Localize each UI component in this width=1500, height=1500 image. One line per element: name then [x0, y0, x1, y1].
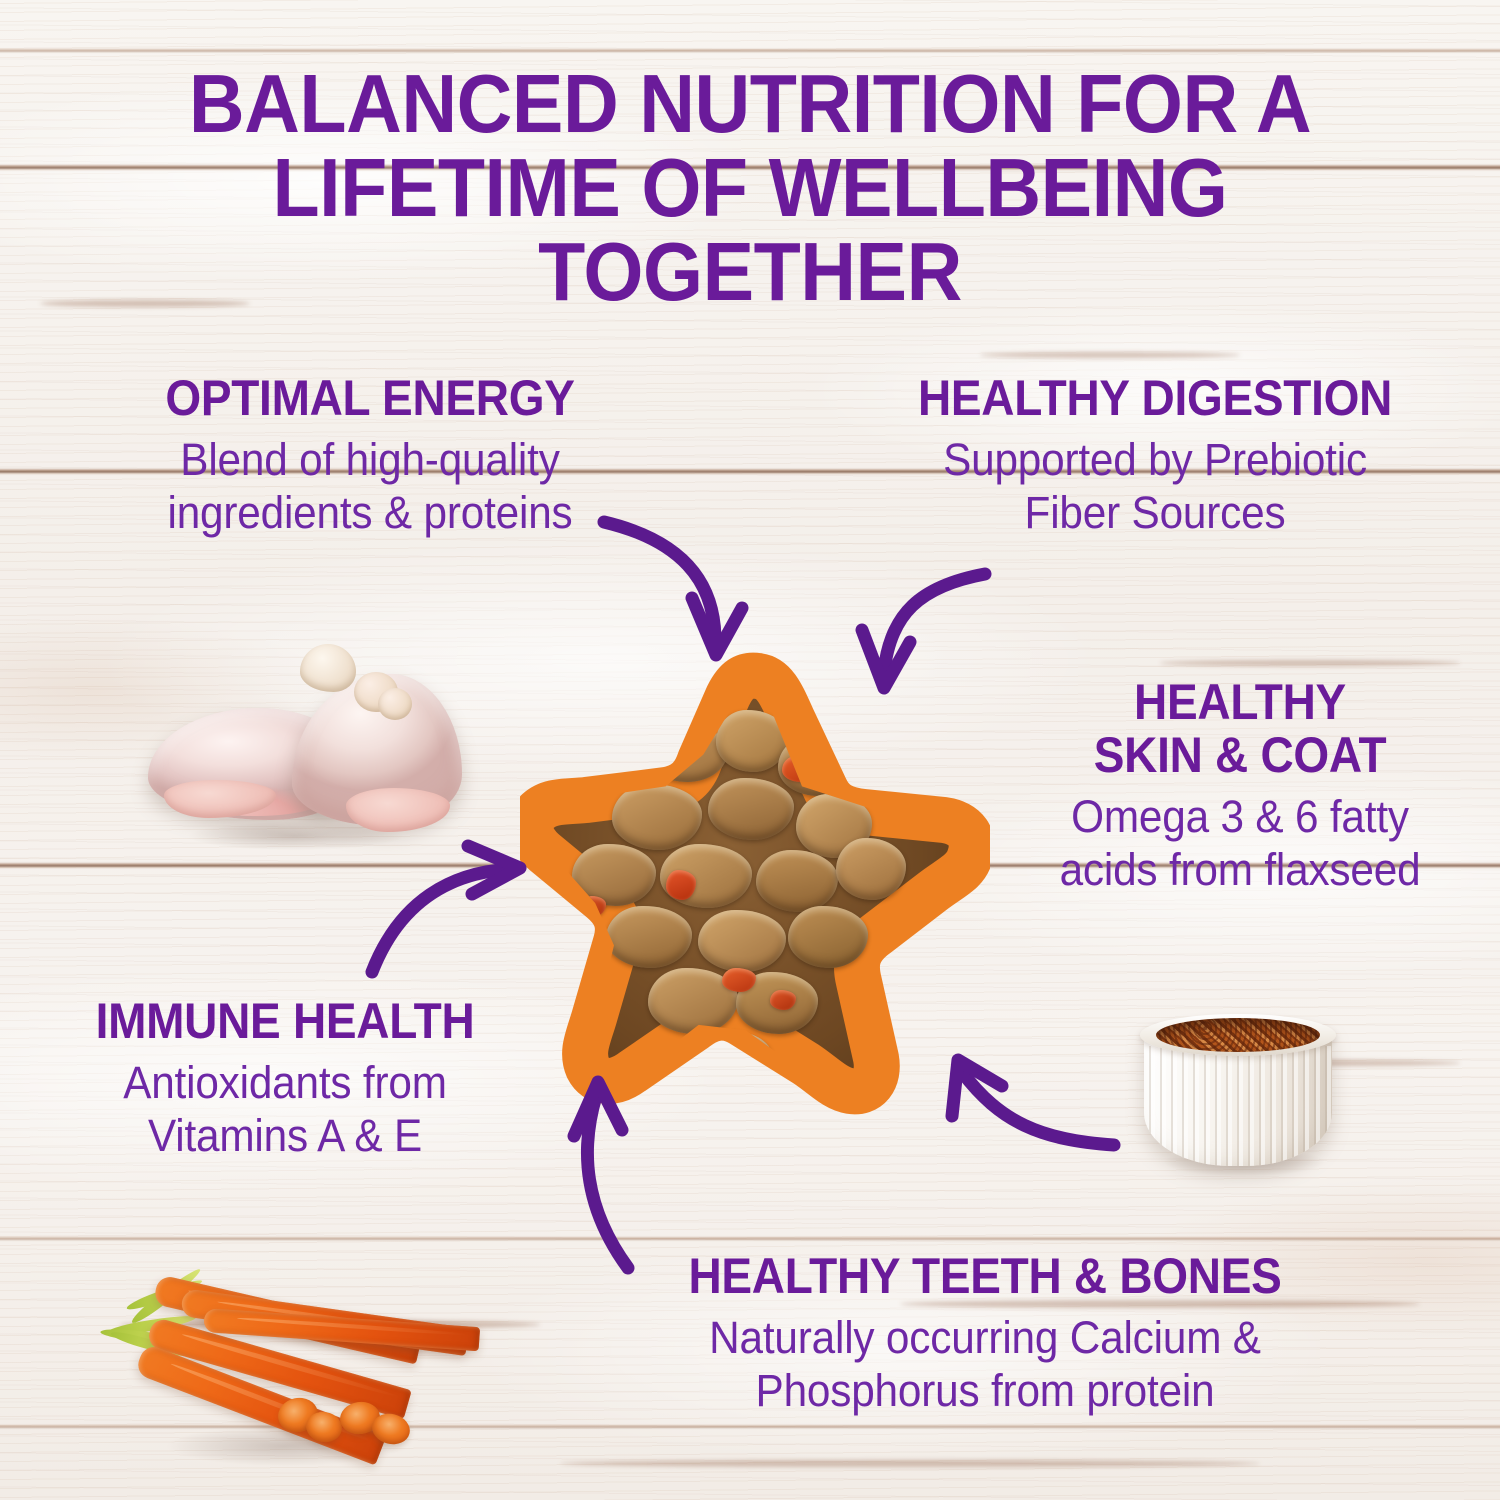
infographic-poster: BALANCED NUTRITION FOR A LIFETIME OF WEL… — [0, 0, 1500, 1500]
benefit-healthy-teeth-and-bones: HEALTHY TEETH & BONES Naturally occurrin… — [600, 1250, 1370, 1417]
benefit-heading: HEALTHY DIGESTION — [865, 372, 1445, 425]
arrow-optimal-energy — [604, 522, 742, 655]
benefit-body: Antioxidants from Vitamins A & E — [45, 1056, 524, 1162]
arrow-healthy-digestion — [862, 574, 985, 688]
benefit-body: Blend of high-quality ingredients & prot… — [79, 433, 662, 539]
benefit-healthy-skin-and-coat: HEALTHY SKIN & COAT Omega 3 & 6 fatty ac… — [990, 676, 1490, 896]
benefit-heading: HEALTHY TEETH & BONES — [631, 1250, 1339, 1303]
arrow-immune-health — [372, 846, 520, 972]
benefit-healthy-digestion: HEALTHY DIGESTION Supported by Prebiotic… — [840, 372, 1470, 539]
benefit-body: Omega 3 & 6 fatty acids from flaxseed — [1005, 790, 1475, 896]
benefit-body: Naturally occurring Calcium & Phosphorus… — [623, 1311, 1347, 1417]
arrow-healthy-teeth-bones — [574, 1082, 628, 1268]
benefit-heading: IMMUNE HEALTH — [50, 995, 519, 1048]
benefit-body: Supported by Prebiotic Fiber Sources — [859, 433, 1451, 539]
benefit-heading: HEALTHY SKIN & COAT — [1010, 676, 1470, 782]
benefit-immune-health: IMMUNE HEALTH Antioxidants from Vitamins… — [30, 995, 540, 1162]
arrow-healthy-skin-coat — [952, 1060, 1114, 1145]
benefit-heading: OPTIMAL ENERGY — [85, 372, 655, 425]
benefit-optimal-energy: OPTIMAL ENERGY Blend of high-quality ing… — [60, 372, 680, 539]
